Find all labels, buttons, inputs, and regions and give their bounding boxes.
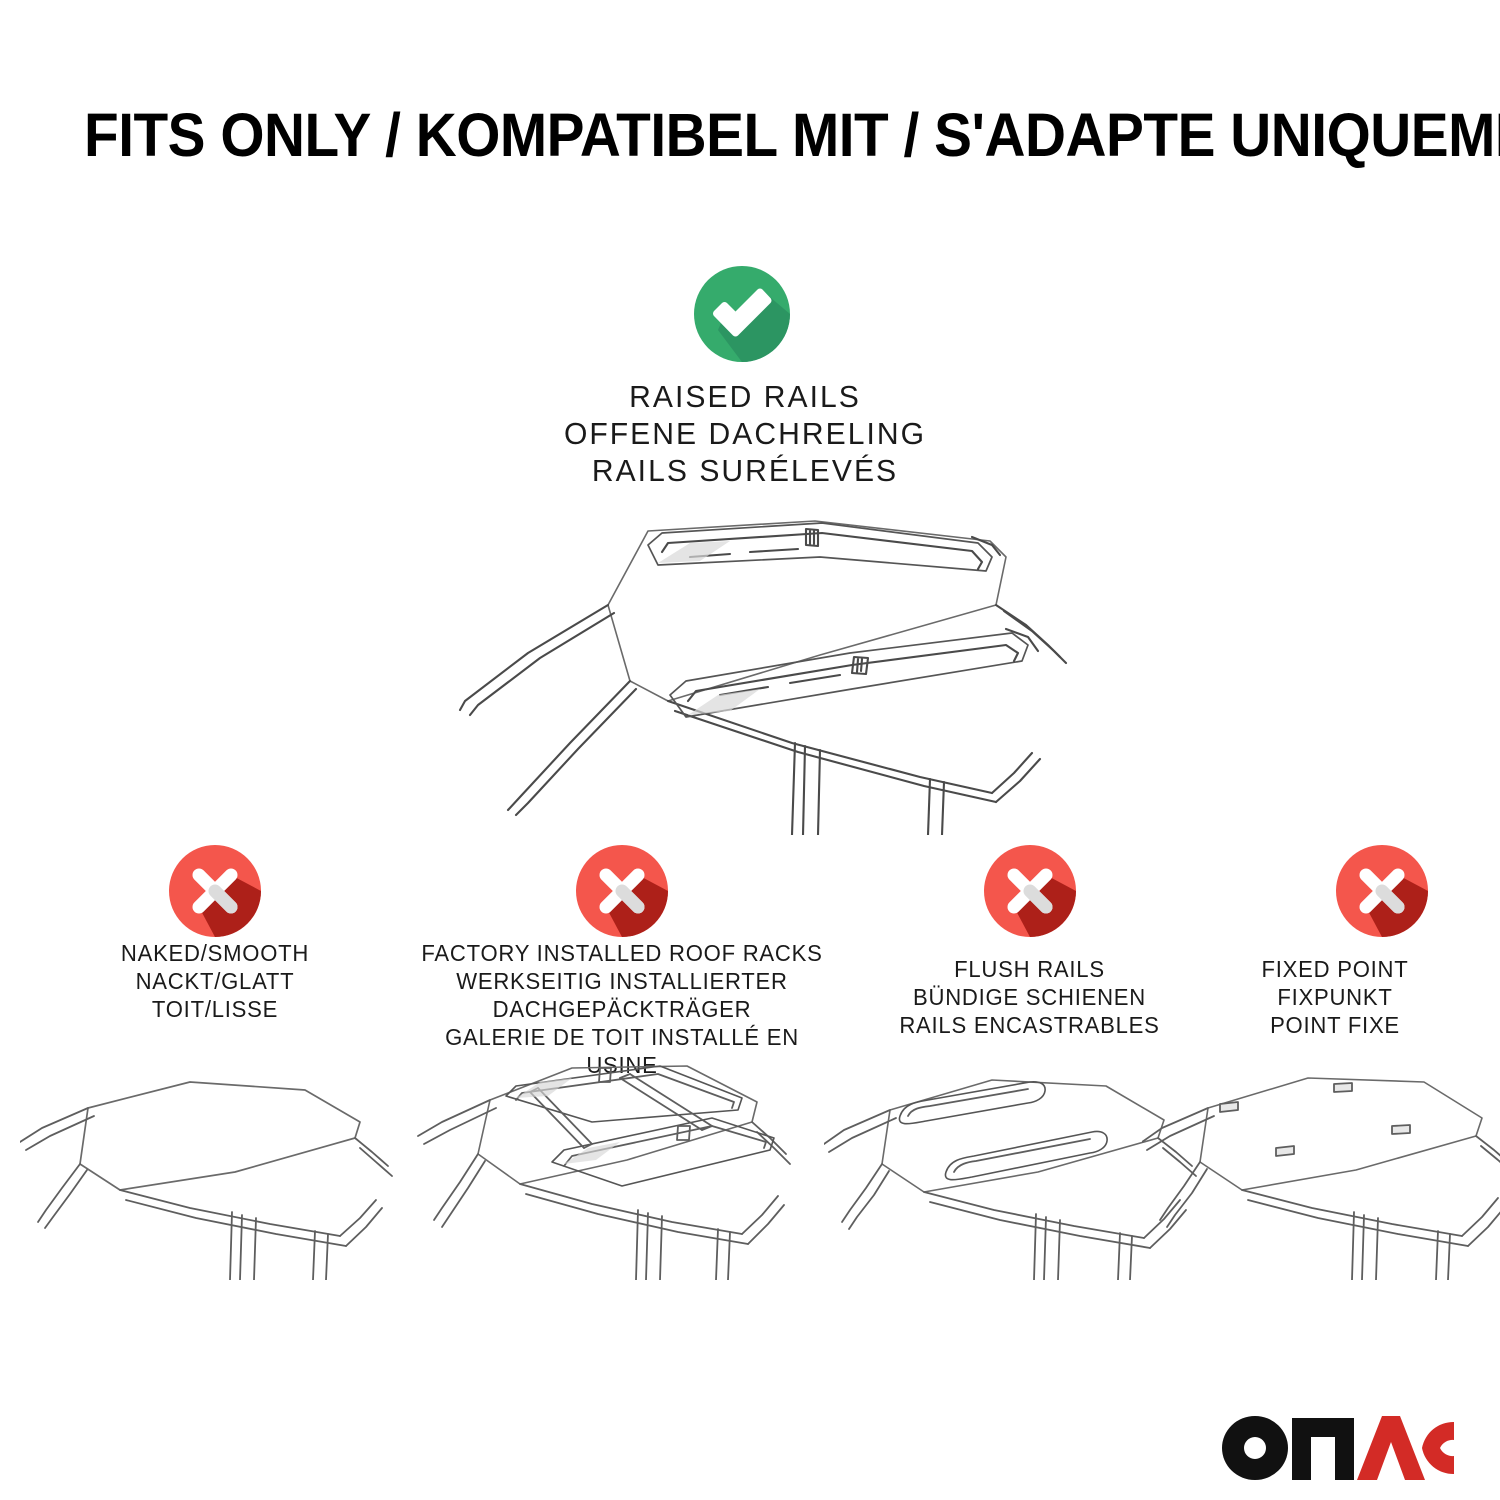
caption-line-fr: TOIT/LISSE <box>13 995 417 1023</box>
omac-logo-svg: OMAC <box>1222 1408 1454 1480</box>
fixed-point-svg <box>1142 1060 1500 1280</box>
caption-naked-smooth: NAKED/SMOOTH NACKT/GLATT TOIT/LISSE <box>13 939 417 1023</box>
red-cross-svg <box>1336 845 1428 937</box>
red-cross-svg <box>984 845 1076 937</box>
caption-line-en: NAKED/SMOOTH <box>13 939 417 967</box>
page-title: FITS ONLY / KOMPATIBEL MIT / S'ADAPTE UN… <box>84 104 1330 166</box>
fitment-infographic: FITS ONLY / KOMPATIBEL MIT / S'ADAPTE UN… <box>0 0 1500 1500</box>
compatible-line-de: OFFENE DACHRELING <box>430 415 1061 452</box>
compatible-line-fr: RAILS SURÉLEVÉS <box>430 452 1061 489</box>
red-cross-svg <box>169 845 261 937</box>
factory-racks-svg <box>412 1060 812 1280</box>
caption-line-en: FIXED POINT <box>1161 955 1500 983</box>
car-roof-fixed-point-illustration <box>1142 1060 1500 1280</box>
raised-rails-svg <box>400 505 1100 835</box>
caption-fixed-point: FIXED POINT FIXPUNKT POINT FIXE <box>1161 955 1500 1039</box>
red-cross-svg <box>576 845 668 937</box>
caption-factory-racks: FACTORY INSTALLED ROOF RACKS WERKSEITIG … <box>415 939 829 1079</box>
caption-line-de: FIXPUNKT <box>1161 983 1500 1011</box>
logo-letter-a <box>1357 1416 1425 1480</box>
car-roof-factory-racks-illustration <box>412 1060 812 1280</box>
caption-line-fr: POINT FIXE <box>1161 1011 1500 1039</box>
red-cross-circle-icon <box>984 845 1076 937</box>
logo-letter-c <box>1422 1422 1454 1474</box>
compatible-label: RAISED RAILS OFFENE DACHRELING RAILS SUR… <box>430 378 1061 489</box>
logo-letter-m <box>1292 1418 1354 1480</box>
car-roof-naked-smooth-illustration <box>20 1060 400 1280</box>
red-cross-circle-icon <box>1336 845 1428 937</box>
compatible-line-en: RAISED RAILS <box>430 378 1061 415</box>
caption-line-de-2: DACHGEPÄCKTRÄGER <box>415 995 829 1023</box>
car-roof-raised-rails-illustration <box>400 505 1100 835</box>
caption-line-en: FACTORY INSTALLED ROOF RACKS <box>415 939 829 967</box>
caption-line-de-1: WERKSEITIG INSTALLIERTER <box>415 967 829 995</box>
naked-roof-svg <box>20 1060 400 1280</box>
caption-line-de: NACKT/GLATT <box>13 967 417 995</box>
logo-letter-o <box>1222 1416 1288 1480</box>
omac-logo: OMAC <box>1222 1408 1454 1480</box>
green-check-svg <box>694 266 790 362</box>
green-check-circle-icon <box>694 266 790 362</box>
red-cross-circle-icon <box>169 845 261 937</box>
red-cross-circle-icon <box>576 845 668 937</box>
